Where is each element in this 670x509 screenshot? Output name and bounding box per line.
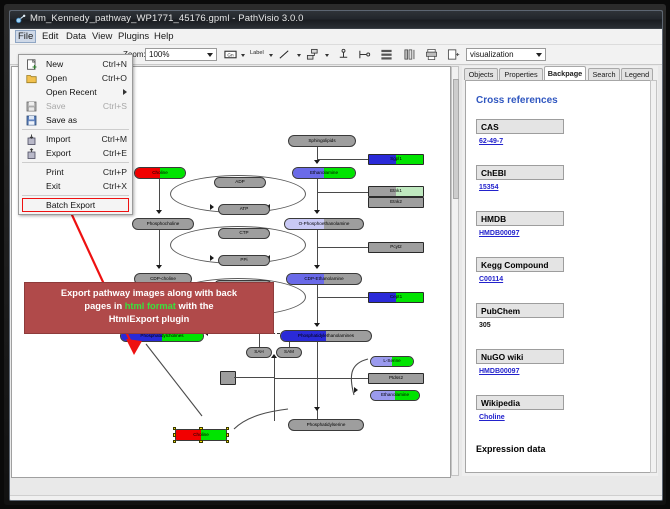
cross-reference-entry: NuGO wikiHMDB00097 [476, 349, 564, 375]
label-tool-label[interactable]: Label [250, 50, 264, 56]
pathway-node-metabolite[interactable]: PPi [218, 255, 270, 266]
new-document-icon [26, 59, 37, 70]
pathway-node-metabolite[interactable]: CDP-Ethanolamine [286, 273, 362, 285]
selected-pathway-node[interactable]: Choline [175, 429, 227, 441]
menu-item-label: Export [46, 148, 71, 158]
menu-data[interactable]: Data [63, 30, 89, 43]
file-menu-item-export[interactable]: ExportCtrl+E [19, 146, 132, 160]
menu-item-shortcut: Ctrl+N [102, 59, 127, 69]
pathway-node-label: CDP-Ethanolamine [304, 277, 343, 282]
side-panel-tabs: Objects Properties Backpage Search Legen… [462, 66, 658, 80]
menu-view[interactable]: View [89, 30, 115, 43]
pathway-node-label: Etnk2 [390, 200, 402, 205]
cross-reference-entry: WikipediaCholine [476, 395, 564, 421]
pathway-node-label: Phosphatidylethanolamines [298, 334, 354, 339]
arrow-down-icon [314, 323, 320, 327]
menu-item-shortcut: Ctrl+M [101, 134, 127, 144]
pathway-node-gene[interactable]: Sgpl1 [368, 154, 424, 165]
screenshot-root: Mm_Kennedy_pathway_WP1771_45176.gpml - P… [0, 0, 670, 509]
selection-handle[interactable] [173, 433, 176, 436]
svg-text:Gn: Gn [227, 52, 234, 57]
callout-line-1: Export pathway images along with back [31, 287, 267, 300]
selection-handle[interactable] [173, 427, 176, 430]
gene-product-dropdown-arrow[interactable] [241, 54, 245, 57]
menu-item-label: Print [46, 167, 64, 177]
edge-ethanolamine-ophospho [317, 179, 318, 213]
menu-item-shortcut: Ctrl+X [103, 181, 127, 191]
pathway-node-metabolite[interactable]: Ethanolamine [370, 390, 420, 401]
menu-separator [22, 162, 129, 163]
pathway-node-label: SAM [284, 350, 294, 355]
cross-reference-name: NuGO wiki [476, 349, 564, 364]
cross-reference-value: 305 [476, 322, 564, 329]
pathway-node-gene[interactable]: Ptdss2 [368, 373, 424, 384]
import-icon [26, 134, 37, 145]
callout-highlight: html format [125, 301, 176, 311]
arrow-down-icon [314, 160, 320, 164]
selection-handle[interactable] [199, 440, 202, 443]
scrollbar-thumb[interactable] [453, 79, 459, 199]
status-bar: | Gene database: ...m_Derby_20120602.bri… [10, 495, 662, 501]
edge-sgpl1-link [317, 159, 369, 160]
file-menu-item-exit[interactable]: ExitCtrl+X [19, 179, 132, 193]
menu-item-label: Open Recent [46, 87, 97, 97]
label-dropdown-arrow[interactable] [269, 54, 273, 57]
menu-separator [22, 129, 129, 130]
callout-line-2-post: with the [176, 301, 214, 311]
menu-item-shortcut: Ctrl+O [102, 73, 127, 83]
open-folder-icon [26, 73, 37, 84]
file-menu-dropdown[interactable]: NewCtrl+NOpenCtrl+OOpen RecentSaveCtrl+S… [18, 54, 133, 215]
menu-edit[interactable]: Edit [39, 30, 61, 43]
cross-reference-link[interactable]: 62-49-7 [476, 138, 564, 145]
window-title: Mm_Kennedy_pathway_WP1771_45176.gpml - P… [30, 13, 304, 24]
line-dropdown-arrow[interactable] [297, 54, 301, 57]
menu-help[interactable]: Help [151, 30, 177, 43]
menu-file[interactable]: File [15, 30, 36, 43]
selected-node-label: Choline [193, 433, 209, 438]
edge-ophospho-cdpethanolamine [317, 230, 318, 268]
menu-separator [22, 195, 129, 196]
pathway-node-label: Ethanolamine [310, 171, 338, 176]
selection-handle[interactable] [226, 440, 229, 443]
sidebar-toggle-icon[interactable] [447, 48, 460, 61]
print-icon[interactable] [425, 48, 438, 61]
arrow-down-icon [156, 210, 162, 214]
zoom-value: 100% [149, 50, 169, 59]
edge-selected-choline-curve [222, 407, 292, 439]
pathway-node-label: Etnk1 [390, 189, 402, 194]
cross-reference-entry: CAS62-49-7 [476, 119, 564, 145]
arrow-down-icon [314, 210, 320, 214]
callout-line-2-pre: pages in [84, 301, 124, 311]
pathway-node-gene[interactable]: Cept1 [368, 292, 424, 303]
pathway-node-label: CDP-choline [150, 277, 176, 282]
pathway-node-label: Sgpl1 [390, 157, 402, 162]
submenu-arrow-icon [123, 89, 127, 95]
cross-reference-link[interactable]: HMDB00097 [476, 368, 564, 375]
pathway-node-label: SAH [254, 350, 263, 355]
edge-phosphocholine-cdpcholine [159, 230, 160, 268]
pathway-node-label: Ptdss2 [389, 376, 403, 381]
arrow-down-icon [314, 407, 320, 411]
pathway-node-metabolite[interactable]: CTP [218, 228, 270, 239]
file-menu-item-new[interactable]: NewCtrl+N [19, 57, 132, 71]
menu-plugins[interactable]: Plugins [115, 30, 152, 43]
pathway-node-metabolite[interactable]: Phosphocholine [132, 218, 194, 230]
pathway-node-metabolite[interactable]: SAM [276, 347, 302, 358]
menu-item-shortcut: Ctrl+E [103, 148, 127, 158]
visualization-combobox[interactable]: visualization [466, 48, 546, 61]
line-icon[interactable] [278, 48, 291, 61]
backpage-content: Cross references CAS62-49-7ChEBI15354HMD… [465, 80, 655, 473]
side-panel: Objects Properties Backpage Search Legen… [462, 66, 658, 476]
cross-reference-link[interactable]: HMDB00097 [476, 230, 564, 237]
pathway-node-label: Cept1 [390, 295, 402, 300]
selection-handle[interactable] [226, 427, 229, 430]
pathway-node-metabolite[interactable]: Phosphatidylserine [288, 419, 364, 431]
pathway-node-label: Phosphatidylcholines [140, 334, 183, 339]
file-menu-item-open-recent[interactable]: Open Recent [19, 85, 132, 99]
tab-backpage[interactable]: Backpage [544, 66, 586, 80]
side-panel-scrollbar[interactable] [650, 80, 657, 473]
shape-dropdown-arrow[interactable] [325, 54, 329, 57]
file-menu-item-save: SaveCtrl+S [19, 99, 132, 113]
status-text: | Gene database: ...m_Derby_20120602.bri… [15, 500, 466, 501]
expression-data-heading: Expression data [476, 444, 546, 454]
tab-search[interactable]: Search [588, 68, 620, 80]
chevron-down-icon [207, 53, 213, 57]
file-menu-item-open[interactable]: OpenCtrl+O [19, 71, 132, 85]
menu-item-shortcut: Ctrl+P [103, 167, 127, 177]
pathway-node-metabolite[interactable]: O-Phosphoethanolamine [284, 218, 364, 230]
cross-reference-entry: Kegg CompoundC00114 [476, 257, 564, 283]
edge-etnk-link [317, 192, 369, 193]
menu-item-label: New [46, 59, 63, 69]
callout-line-3: HtmlExport plugin [31, 313, 267, 326]
pathway-node-label: CTP [239, 231, 248, 236]
annotation-callout: Export pathway images along with back pa… [24, 282, 274, 334]
batch-export-highlight-box [22, 198, 129, 212]
cross-reference-link[interactable]: 15354 [476, 184, 564, 191]
pathway-node-label: Sphingolipids [308, 139, 335, 144]
save-as-icon [26, 115, 37, 126]
file-menu-item-import[interactable]: ImportCtrl+M [19, 132, 132, 146]
cross-reference-entry: HMDBHMDB00097 [476, 211, 564, 237]
pathway-node-label: ATP [240, 207, 249, 212]
pathway-node-label: Phosphatidylserine [307, 423, 346, 428]
selection-handle[interactable] [226, 433, 229, 436]
pathway-node-metabolite[interactable]: Ethanolamine [292, 167, 356, 179]
title-bar: Mm_Kennedy_pathway_WP1771_45176.gpml - P… [10, 11, 662, 29]
pathvisio-window: Mm_Kennedy_pathway_WP1771_45176.gpml - P… [9, 10, 663, 501]
export-icon [26, 148, 37, 159]
cross-reference-name: CAS [476, 119, 564, 134]
cross-references-heading: Cross references [476, 95, 558, 106]
pathway-node-metabolite[interactable]: Phosphatidylethanolamines [280, 330, 372, 342]
tab-objects[interactable]: Objects [464, 68, 498, 80]
interaction-icon[interactable] [358, 48, 371, 61]
pathway-node-label: Phosphocholine [147, 222, 180, 227]
pathvisio-app-icon [15, 14, 26, 25]
cross-reference-entry: ChEBI15354 [476, 165, 564, 191]
arrow-down-icon [314, 265, 320, 269]
menu-bar: File Edit Data View Plugins Help [10, 29, 662, 45]
menu-item-label: Import [46, 134, 70, 144]
gene-product-icon[interactable]: Gn [224, 48, 237, 61]
layout-icon[interactable] [403, 48, 416, 61]
edge-cept1-link [317, 297, 369, 298]
cross-reference-name: HMDB [476, 211, 564, 226]
pathway-node-metabolite[interactable]: Sphingolipids [288, 135, 356, 147]
arrow-right-icon [210, 255, 214, 261]
save-disk-icon [26, 101, 37, 112]
cross-reference-name: Kegg Compound [476, 257, 564, 272]
cross-reference-name: PubChem [476, 303, 564, 318]
file-menu-item-save-as[interactable]: Save as [19, 113, 132, 127]
cross-reference-name: Wikipedia [476, 395, 564, 410]
selection-handle[interactable] [173, 440, 176, 443]
tab-properties[interactable]: Properties [499, 68, 543, 80]
cross-reference-name: ChEBI [476, 165, 564, 180]
file-menu-item-print[interactable]: PrintCtrl+P [19, 165, 132, 179]
align-icon[interactable] [380, 48, 393, 61]
pathway-node-label: L-Serine [383, 359, 400, 364]
pathway-node-metabolite[interactable]: Choline [134, 167, 186, 179]
pathway-node-metabolite[interactable]: SAH [246, 347, 272, 358]
file-menu-item-batch-export[interactable]: Batch Export [19, 198, 132, 212]
canvas-vertical-scrollbar[interactable] [451, 66, 459, 476]
arrow-right-icon [210, 204, 214, 210]
anchor-icon[interactable] [337, 48, 350, 61]
pathway-node-metabolite[interactable]: ATP [218, 204, 270, 215]
menu-item-shortcut: Ctrl+S [103, 101, 127, 111]
arrow-right-icon [354, 387, 358, 393]
pathway-node-gene[interactable]: Etnk1 [368, 186, 424, 197]
cross-reference-link[interactable]: C00114 [476, 276, 564, 283]
edge-cdpethanolamine-ptdethanolamine [317, 285, 318, 326]
tab-legend[interactable]: Legend [621, 68, 653, 80]
menu-item-label: Save as [46, 115, 77, 125]
edge-choline-phosphocholine [159, 179, 160, 213]
menu-item-label: Save [46, 101, 66, 111]
pathway-node-metabolite[interactable]: L-Serine [370, 356, 414, 367]
arrow-down-icon [156, 265, 162, 269]
cross-reference-link[interactable]: Choline [476, 414, 564, 421]
menu-item-label: Exit [46, 181, 60, 191]
visualization-value: visualization [470, 50, 514, 59]
cross-reference-entry: PubChem305 [476, 303, 564, 329]
pathway-node-label: O-Phosphoethanolamine [299, 222, 350, 227]
pathway-node-gene[interactable]: Etnk2 [368, 197, 424, 208]
pathway-node-label: PPi [240, 258, 247, 263]
chevron-down-icon [536, 53, 542, 57]
pathway-node-label: Pcyt2 [390, 245, 402, 250]
pathway-node-label: Ethanolamine [381, 393, 409, 398]
pathway-node-metabolite[interactable]: ADP [214, 177, 266, 188]
shape-icon[interactable] [306, 48, 319, 61]
zoom-combobox[interactable]: 100% [145, 48, 217, 61]
selection-handle[interactable] [199, 427, 202, 430]
edge-pcyt2-link [317, 247, 369, 248]
pathway-node-gene[interactable]: Pcyt2 [368, 242, 424, 253]
menu-item-label: Open [46, 73, 67, 83]
callout-line-2: pages in html format with the [31, 300, 267, 313]
pathway-node-label: ADP [235, 180, 244, 185]
pathway-node-label: Choline [152, 171, 168, 176]
